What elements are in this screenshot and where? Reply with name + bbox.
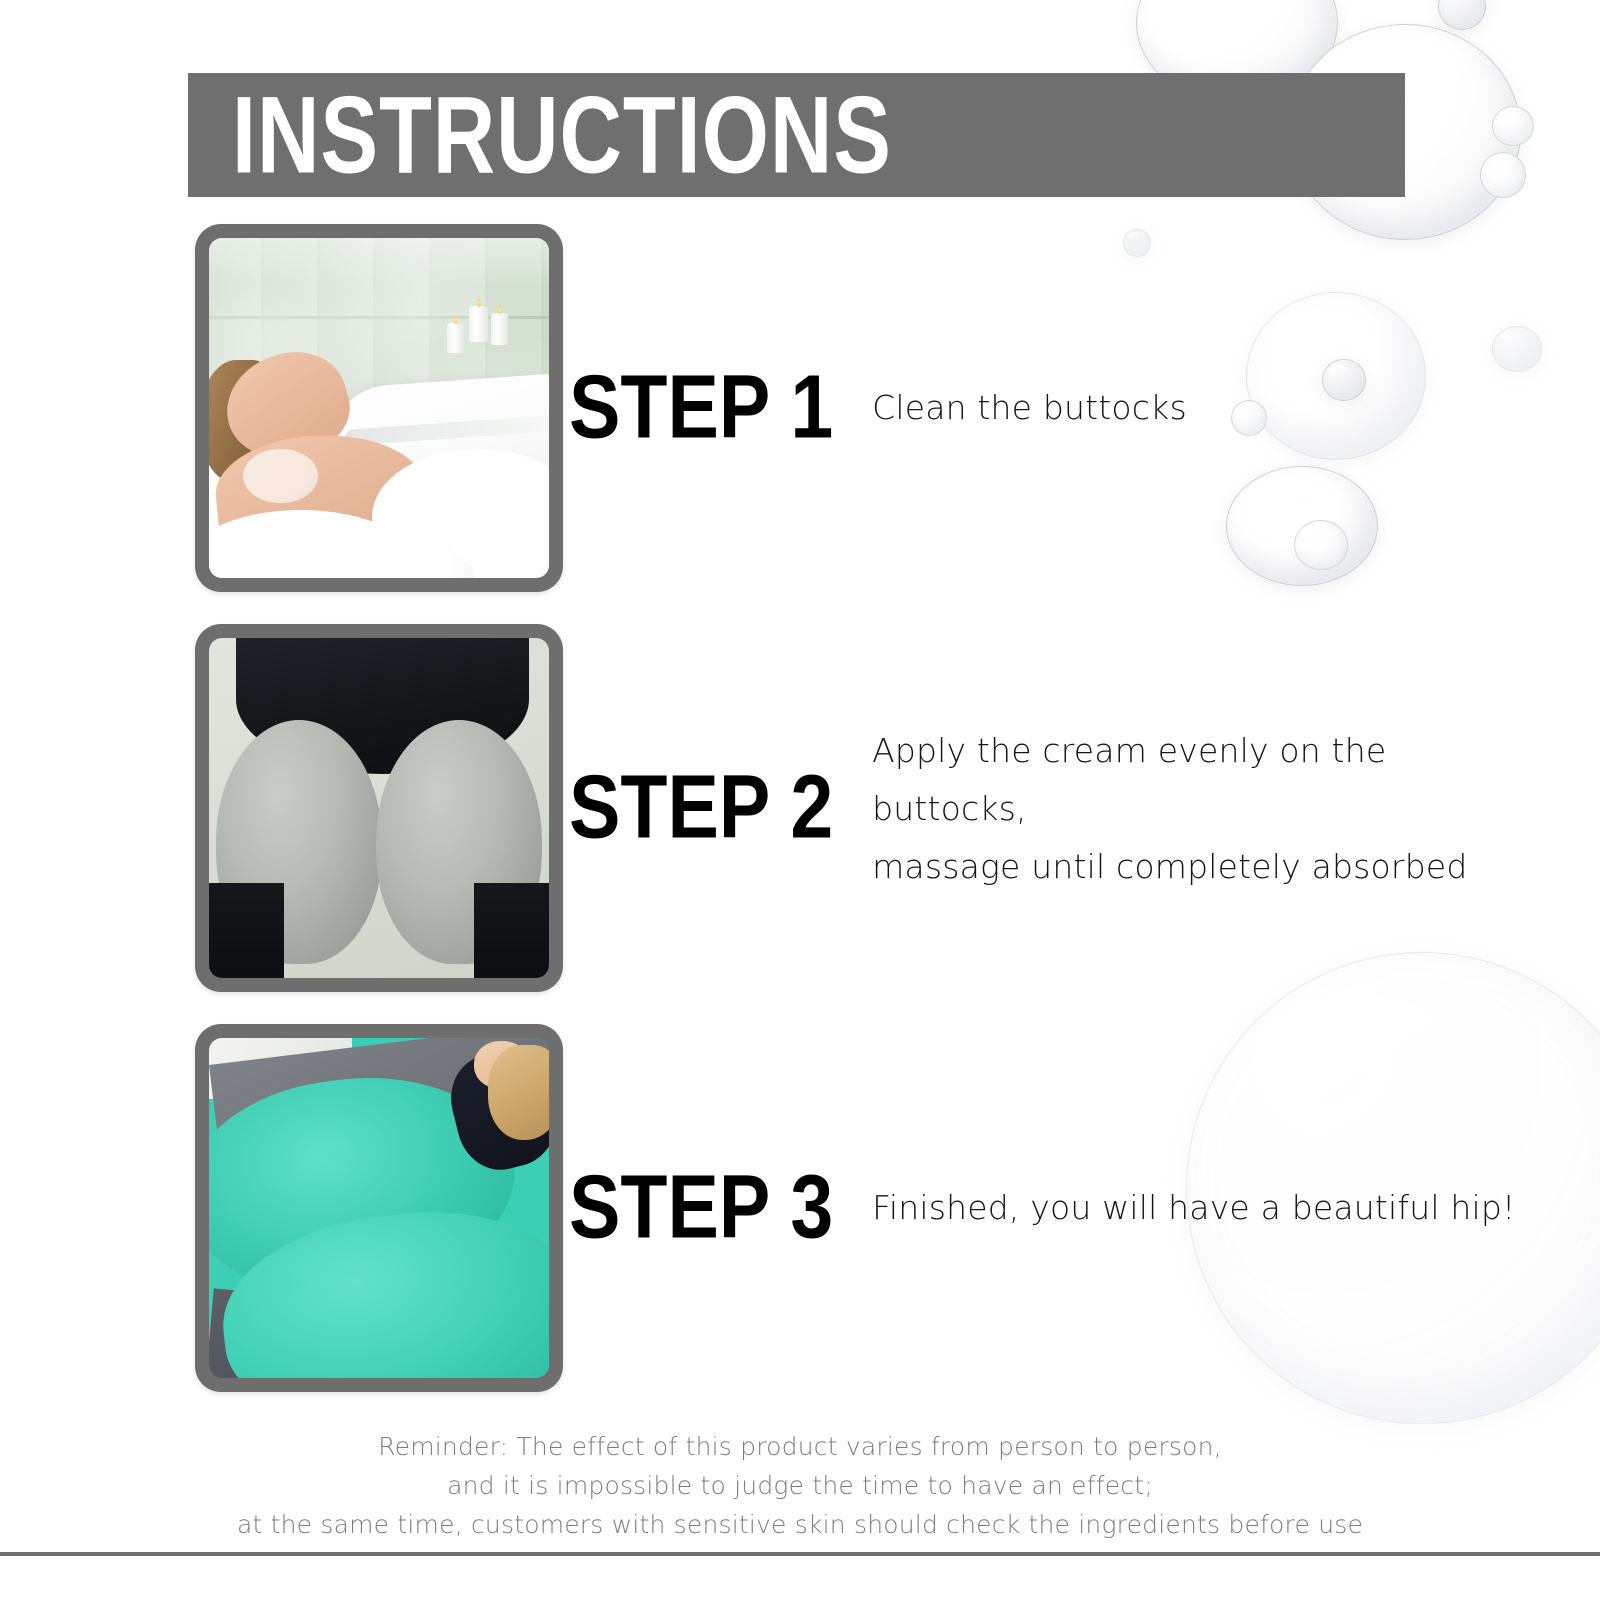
bath-foam: [243, 449, 318, 503]
bubble-lobe-icon: [1492, 106, 1534, 146]
step-row-1: STEP 1 Clean the buttocks: [195, 224, 1535, 592]
bubble-lobe-icon: [1480, 152, 1526, 198]
step-3-text: STEP 3 Finished, you will have a beautif…: [563, 1024, 1535, 1392]
step-2-label: STEP 2: [569, 763, 833, 853]
bottom-divider: [0, 1552, 1600, 1556]
instructions-infographic: INSTRUCTIONS STEP 1: [0, 0, 1600, 1600]
step-1-label: STEP 1: [569, 363, 833, 453]
bubble-icon: [1438, 0, 1486, 30]
step-2-photo: [209, 638, 549, 978]
step-3-photo: [209, 1038, 549, 1378]
leggings-dark-edge-left: [209, 883, 284, 978]
step-3-description: Finished, you will have a beautiful hip!: [872, 1179, 1515, 1237]
step-1-photo-frame: [195, 224, 563, 592]
step-1-text: STEP 1 Clean the buttocks: [563, 224, 1535, 592]
step-2-photo-frame: [195, 624, 563, 992]
candle-icon: [447, 323, 464, 353]
candle-icon: [491, 313, 508, 345]
blonde-hair: [488, 1045, 549, 1140]
reminder-text: Reminder: The effect of this product var…: [0, 1428, 1600, 1544]
step-3-photo-frame: [195, 1024, 563, 1392]
step-row-3: STEP 3 Finished, you will have a beautif…: [195, 1024, 1535, 1392]
header-banner: INSTRUCTIONS: [188, 73, 1405, 197]
step-3-label: STEP 3: [569, 1163, 833, 1253]
step-2-description: Apply the cream evenly on the buttocks, …: [872, 722, 1535, 895]
step-2-text: STEP 2 Apply the cream evenly on the but…: [563, 624, 1535, 992]
step-1-photo: [209, 238, 549, 578]
step-1-description: Clean the buttocks: [872, 379, 1187, 437]
step-row-2: STEP 2 Apply the cream evenly on the but…: [195, 624, 1535, 992]
page-title: INSTRUCTIONS: [232, 80, 892, 190]
candle-icon: [469, 306, 488, 342]
leggings-dark-edge-right: [474, 883, 549, 978]
